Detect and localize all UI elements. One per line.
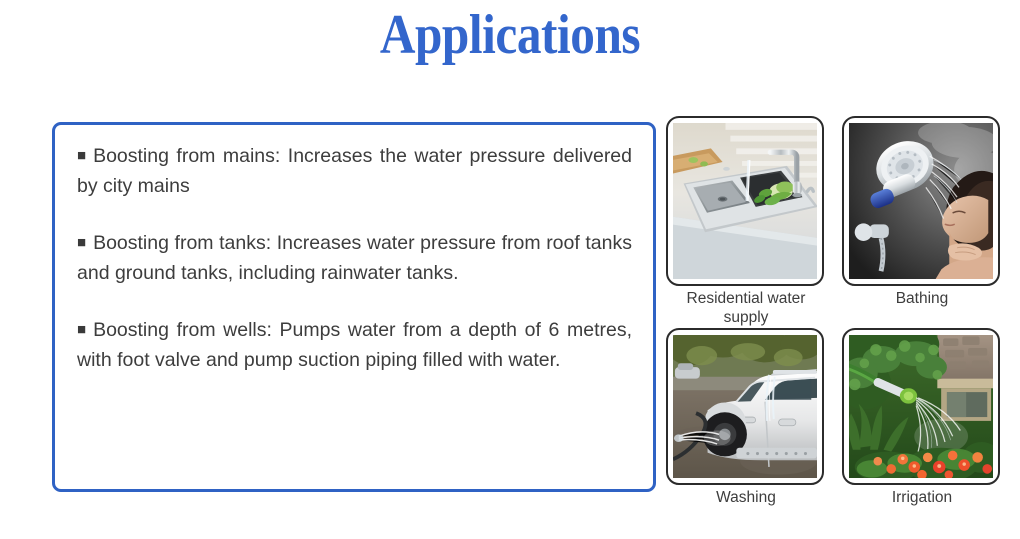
page-title: Applications xyxy=(61,2,959,68)
car-washing-photo xyxy=(673,335,817,478)
photo-cell-washing: Washing xyxy=(666,328,826,507)
bullet-item-text: Boosting from tanks: Increases water pre… xyxy=(77,232,632,284)
photo-caption: Irrigation xyxy=(842,488,1002,507)
photo-frame xyxy=(842,328,1000,485)
bullet-item-boosting-from-tanks: ■Boosting from tanks: Increases water pr… xyxy=(77,228,632,289)
photo-frame xyxy=(842,116,1000,286)
photo-frame xyxy=(666,328,824,485)
kitchen-sink-photo xyxy=(673,123,817,279)
photo-cell-irrigation: Irrigation xyxy=(842,328,1002,507)
bullet-item-boosting-from-wells: ■Boosting from wells: Pumps water from a… xyxy=(77,315,632,376)
photo-caption: Washing xyxy=(666,488,826,507)
square-bullet-icon: ■ xyxy=(77,148,86,163)
bullet-item-text: Boosting from wells: Pumps water from a … xyxy=(77,319,632,371)
photo-cell-bathing: Bathing xyxy=(842,116,1002,308)
square-bullet-icon: ■ xyxy=(77,235,86,250)
application-photo-grid: Residential water supply xyxy=(666,116,1010,516)
bullet-item-text: Boosting from mains: Increases the water… xyxy=(77,145,632,197)
photo-cell-residential-water-supply: Residential water supply xyxy=(666,116,826,327)
square-bullet-icon: ■ xyxy=(77,322,86,337)
shower-head-photo xyxy=(849,123,993,279)
garden-irrigation-photo xyxy=(849,335,993,478)
photo-frame xyxy=(666,116,824,286)
photo-caption: Bathing xyxy=(842,289,1002,308)
photo-caption: Residential water supply xyxy=(666,289,826,327)
bullet-item-boosting-from-mains: ■Boosting from mains: Increases the wate… xyxy=(77,141,632,202)
applications-text-panel: ■Boosting from mains: Increases the wate… xyxy=(52,122,656,492)
